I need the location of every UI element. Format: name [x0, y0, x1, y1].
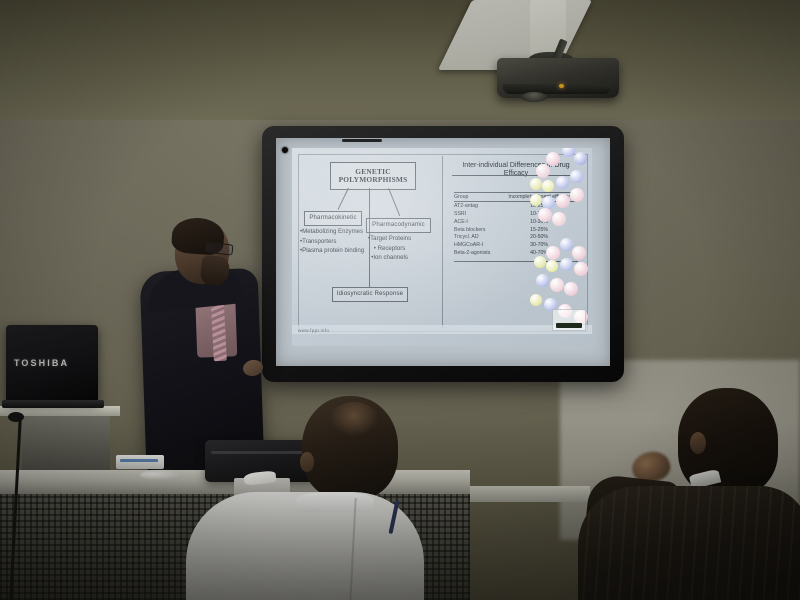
cell-group: ACE-I — [454, 218, 500, 226]
branch-pk-label: Pharmacokinetic — [309, 215, 356, 222]
cell-group: Tricycl. AD — [454, 234, 500, 242]
branch-pd-label: Pharmacodynamic — [372, 222, 425, 229]
pd-bullet-2: • Receptors — [368, 244, 411, 254]
slide-footer-url: www.fppt.info — [298, 328, 329, 333]
cell-group: SSRI — [454, 210, 500, 218]
pk-bullet-1: •Metabolizing Enzymes — [300, 227, 364, 237]
diagram-branch-pharmacokinetic: Pharmacokinetic — [304, 211, 362, 226]
pd-bullet-1: •Target Proteins — [368, 234, 411, 244]
pk-bullet-2: •Transporters — [300, 237, 364, 247]
diagram-root-label: GENETIC POLYMORPHISMS — [333, 168, 413, 185]
projected-slide: GENETIC POLYMORPHISMS Pharmacokinetic •M… — [292, 148, 592, 346]
branch-pk-bullets: •Metabolizing Enzymes •Transporters •Pla… — [300, 227, 364, 256]
slide-logo — [552, 309, 586, 331]
board-screen[interactable]: GENETIC POLYMORPHISMS Pharmacokinetic •M… — [276, 138, 610, 366]
table-col-group: Group — [454, 193, 500, 202]
pk-bullet-3: •Plasma protein binding — [300, 246, 364, 256]
ceiling — [0, 0, 800, 120]
projector-lens — [521, 92, 547, 102]
foreground-shadow — [0, 420, 800, 600]
slide-footer-bar — [292, 325, 592, 334]
projector-status-led — [559, 84, 564, 88]
laptop-base — [2, 400, 104, 408]
diagram-root-box: GENETIC POLYMORPHISMS — [330, 162, 416, 190]
cell-group: Beta blockers — [454, 226, 500, 234]
diagram-branch-pharmacodynamic: Pharmacodynamic — [366, 218, 431, 233]
laptop-brand-label: TOSHIBA — [14, 358, 68, 368]
pd-bullet-3: •Ion channels — [368, 253, 411, 263]
cell-group: Beta-2-agonists — [454, 249, 500, 258]
interactive-whiteboard[interactable]: GENETIC POLYMORPHISMS Pharmacokinetic •M… — [262, 126, 624, 382]
board-sensor-icon — [282, 147, 288, 153]
diagram-outcome-box: Idiosyncratic Response — [332, 287, 408, 302]
slide-column-divider — [442, 156, 443, 328]
cell-group: HMGCoAR-I — [454, 241, 500, 249]
diagram-outcome-label: Idiosyncratic Response — [337, 291, 403, 298]
branch-pd-bullets: •Target Proteins • Receptors •Ion channe… — [368, 234, 411, 263]
projector-body — [497, 58, 619, 98]
cell-group: AT2-antag — [454, 202, 500, 210]
board-bezel-slot — [342, 139, 382, 142]
lecture-room-photo: GENETIC POLYMORPHISMS Pharmacokinetic •M… — [0, 0, 800, 600]
